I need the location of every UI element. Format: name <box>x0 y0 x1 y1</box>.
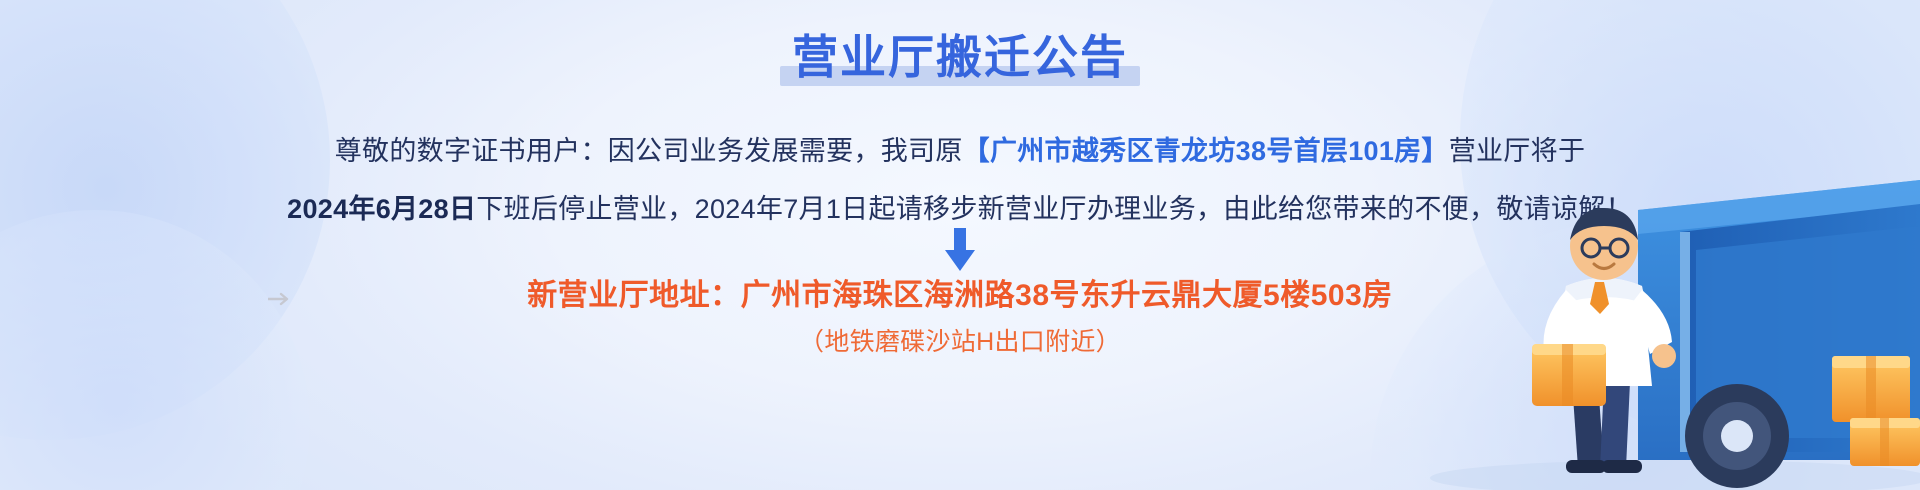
closing-date-highlight: 2024年6月28日 <box>287 194 476 224</box>
banner-title-container: 营业厅搬迁公告 <box>0 26 1920 98</box>
relocation-announcement-banner: 营业厅搬迁公告 尊敬的数字证书用户：因公司业务发展需要，我司原【广州市越秀区青龙… <box>0 0 1920 490</box>
moving-truck-with-courier-illustration <box>1380 160 1920 490</box>
title-inner: 营业厅搬迁公告 <box>786 26 1134 88</box>
page-title: 营业厅搬迁公告 <box>792 31 1128 83</box>
announcement-line-1-text-before: 尊敬的数字证书用户：因公司业务发展需要，我司原 <box>335 136 963 166</box>
carried-box <box>1532 344 1606 406</box>
old-office-address-highlight: 【广州市越秀区青龙坊38号首层101房】 <box>963 136 1449 166</box>
arrow-down-icon <box>943 228 977 272</box>
truck-wheel <box>1685 384 1789 488</box>
illustration-svg <box>1380 160 1920 490</box>
ground-shadow <box>1430 460 1920 490</box>
